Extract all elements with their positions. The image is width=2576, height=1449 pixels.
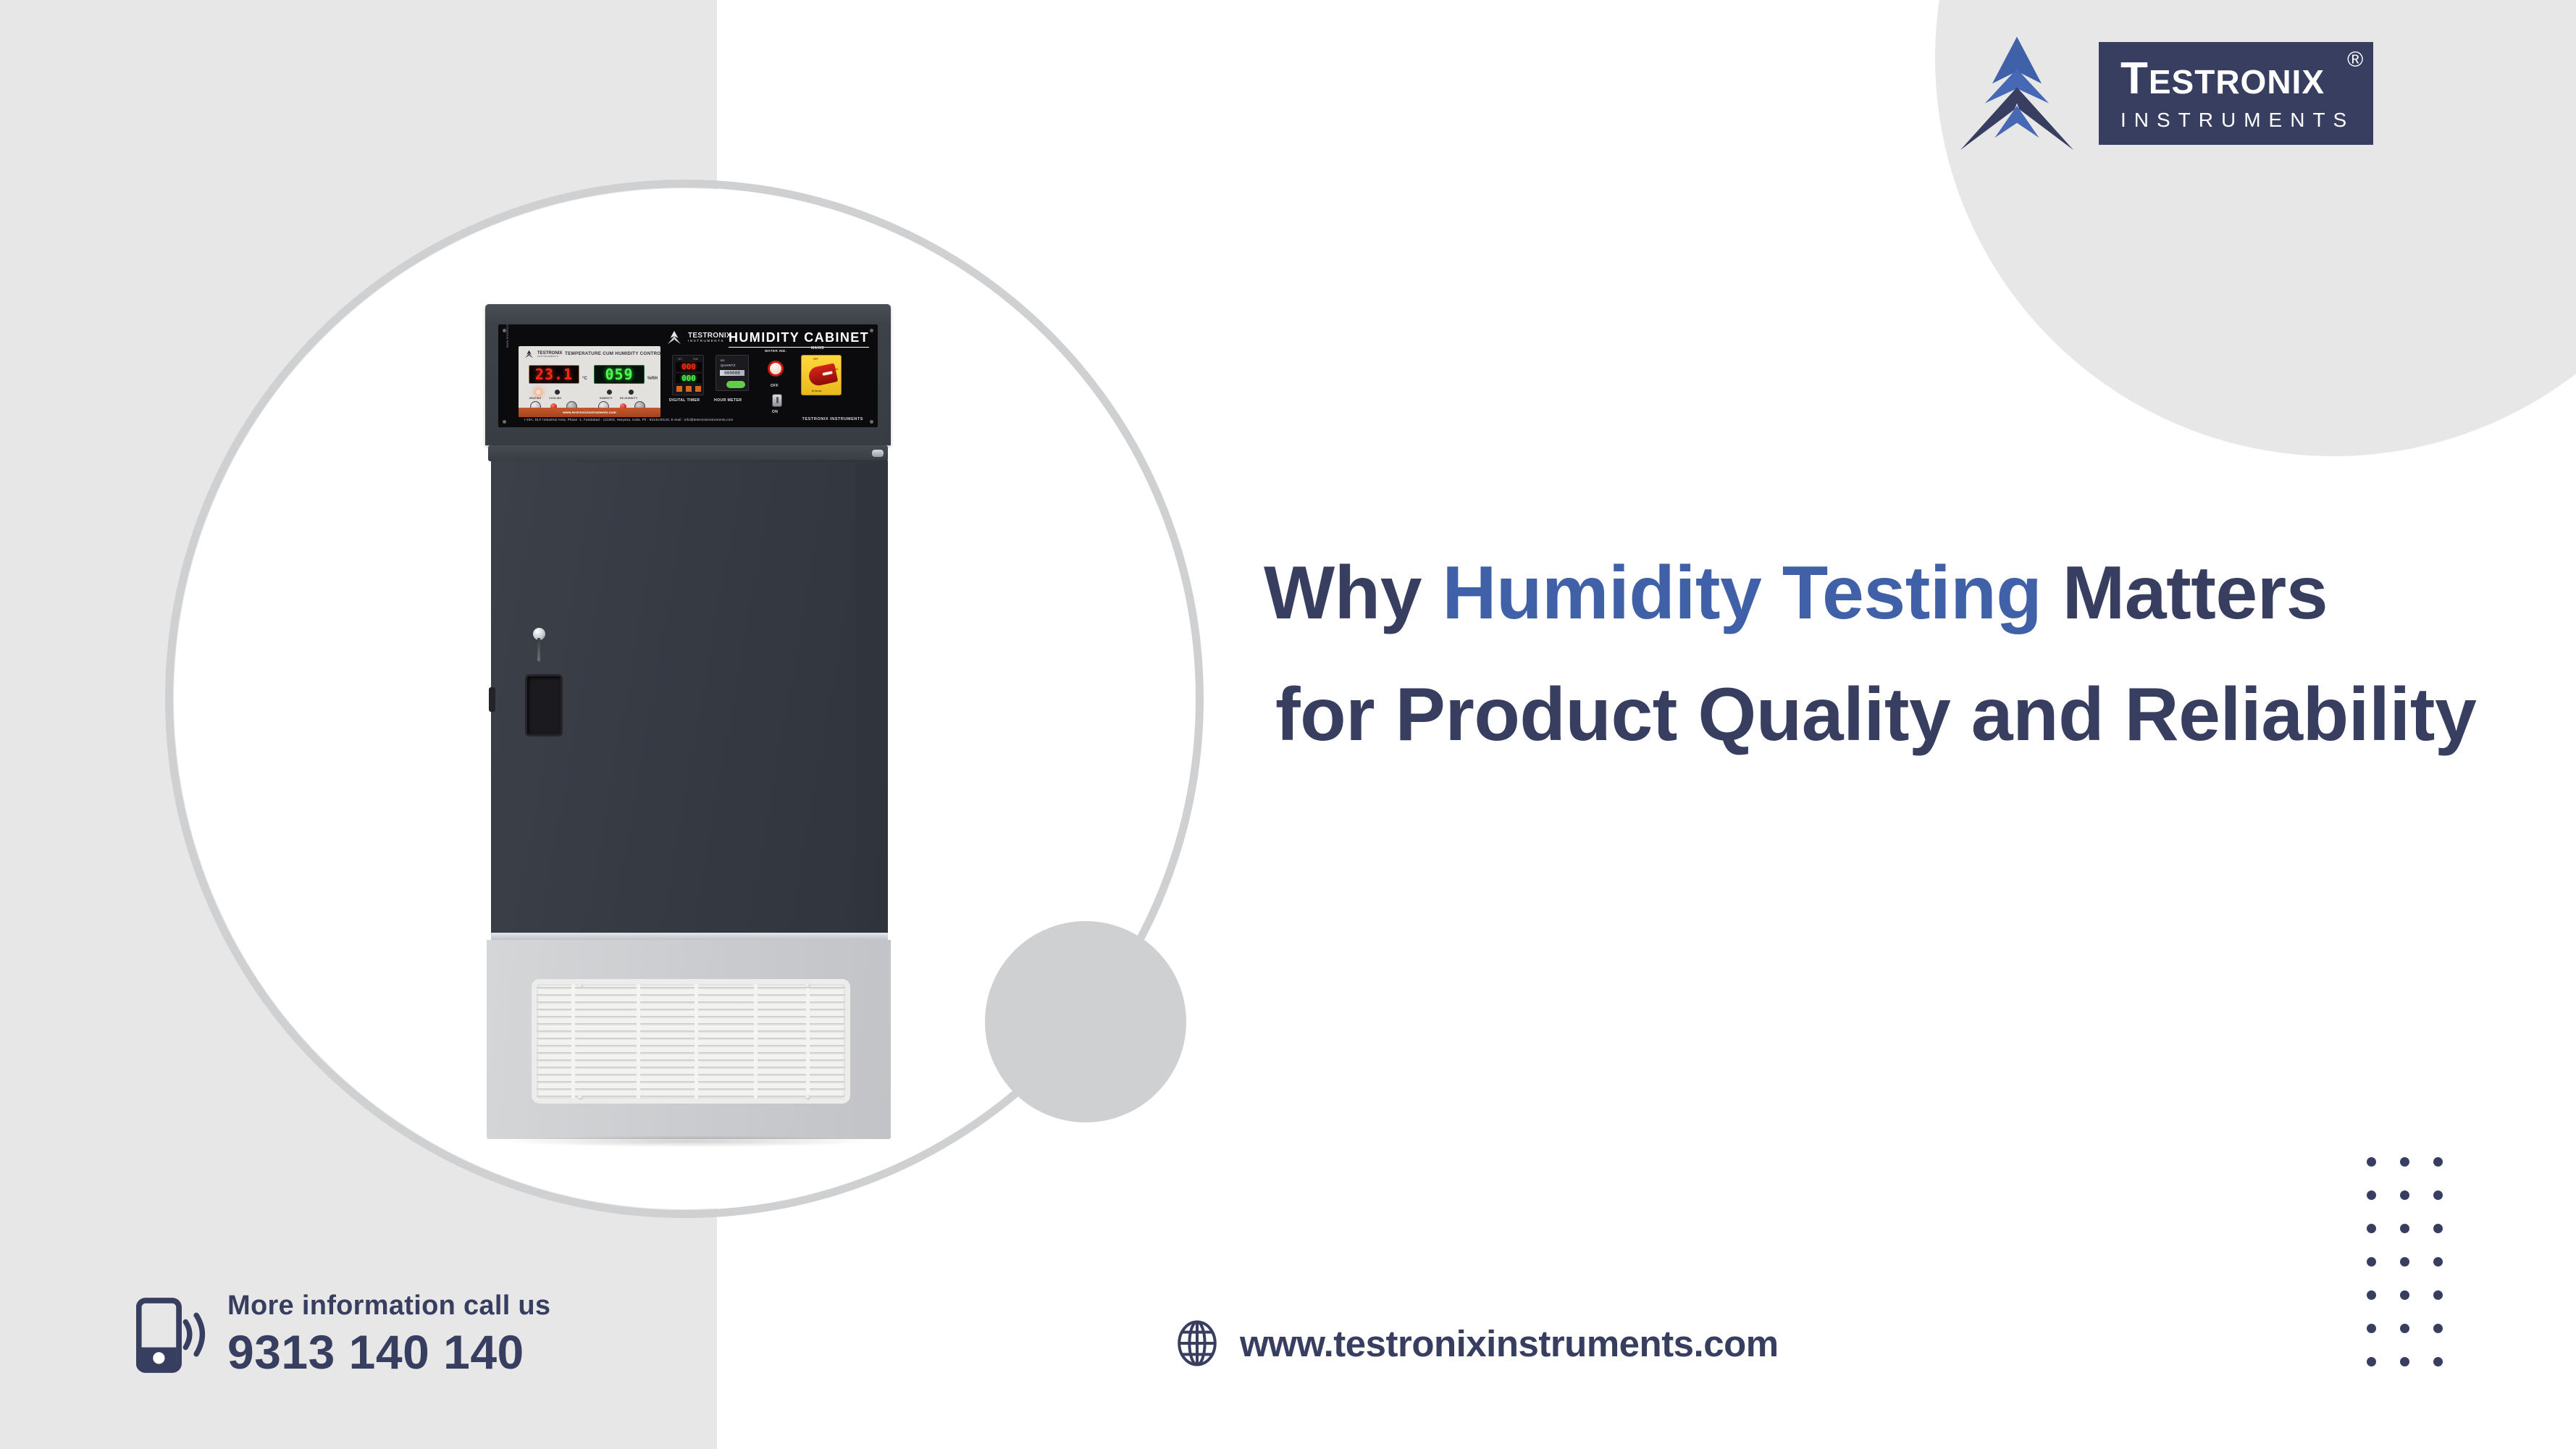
temperature-unit-label: °C (582, 377, 587, 381)
door-hinge-bracket (489, 687, 495, 712)
contact-phone-text: More information call us 9313 140 140 (227, 1290, 550, 1379)
panel-brand-text: TESTRONIX INSTRUMENTS (688, 332, 731, 343)
controller-brand: TESTRONIX INSTRUMENTS (524, 350, 562, 358)
control-panel: TESTRONIX INSTRUMENTS HUMIDITY CABINET w… (498, 324, 878, 427)
power-toggle-switch[interactable] (772, 394, 782, 407)
headline-block: Why Humidity Testing Matters for Product… (1264, 532, 2538, 776)
humidity-value: 059 (605, 366, 633, 383)
hour-meter-digits: 000000 (720, 370, 744, 376)
mains-rotary-switch[interactable]: OFF ON B-Hansa (801, 355, 842, 395)
hour-meter-brand: DC (721, 358, 725, 362)
water-indicator-lamp (768, 361, 784, 377)
grille-screw-icon (578, 1095, 583, 1100)
toggle-off-label: OFF (771, 384, 779, 388)
mains-off-label: OFF (813, 358, 818, 361)
hour-meter-label: HOUR METER (714, 398, 742, 403)
headline-line-2: for Product Quality and Reliability (1264, 654, 2538, 776)
headline-line-1: Why Humidity Testing Matters (1264, 532, 2538, 654)
timer-captions: SET TIME (673, 358, 703, 361)
toggle-on-label: ON (772, 410, 778, 414)
panel-corporate-label: TESTRONIX INSTRUMENTS (802, 417, 863, 421)
timer-green-value: 000 (676, 374, 702, 383)
triangle-chevron-mark-icon (1955, 32, 2078, 155)
brand-logo[interactable]: TESTRONIX ® INSTRUMENTS (1955, 32, 2373, 155)
headline-line1-accent: Humidity Testing (1442, 551, 2042, 635)
digital-timer-module: SET TIME 000 000 (672, 355, 704, 395)
headline-line1-part2: Matters (2042, 551, 2328, 635)
door-handle (525, 674, 563, 736)
controller-brand-text: TESTRONIX INSTRUMENTS (537, 351, 562, 358)
indicator-label-humidity: HUMIDITY (600, 397, 613, 400)
temperature-humidity-controller: TESTRONIX INSTRUMENTS TEMPERATURE CUM HU… (519, 346, 660, 417)
panel-brand-logo: TESTRONIX INSTRUMENTS (666, 330, 731, 345)
indicator-lamp-humidity (607, 390, 612, 395)
registered-trademark-icon: ® (2347, 48, 2363, 72)
grille-screw-icon (805, 983, 810, 988)
headline-line1-part1: Why (1264, 551, 1442, 635)
machine-control-head: TESTRONIX INSTRUMENTS HUMIDITY CABINET w… (485, 304, 891, 445)
timer-red-value: 000 (676, 362, 702, 371)
hour-meter-model: QUARTZ (721, 364, 736, 367)
timer-caption-set: SET (678, 358, 682, 361)
key-icon (537, 638, 540, 661)
hour-meter-indicator (726, 381, 745, 388)
ventilation-grille (532, 979, 850, 1104)
indicator-label-heating: HEATING (529, 397, 541, 400)
indicator-label-cooling: COOLING (549, 397, 561, 400)
timer-caption-time: TIME (692, 358, 698, 361)
mains-knob[interactable] (807, 363, 839, 387)
logo-wordmark: TESTRONIX (2120, 58, 2354, 101)
background-accent-circle (985, 921, 1186, 1122)
mains-label: MAINS (811, 346, 824, 350)
mobile-phone-signal-icon (136, 1296, 206, 1374)
marketing-banner: TESTRONIX INSTRUMENTS HUMIDITY CABINET w… (0, 0, 2576, 1449)
panel-screw-icon (870, 329, 873, 332)
product-name-label: HUMIDITY CABINET (729, 330, 869, 348)
temperature-display: 23.1 (529, 365, 579, 384)
temperature-value: 23.1 (535, 366, 573, 383)
triangle-chevron-mark-icon (666, 330, 682, 345)
indicator-lamp-dehumidity (629, 390, 634, 395)
contact-phone-block[interactable]: More information call us 9313 140 140 (136, 1290, 550, 1379)
contact-phone-number[interactable]: 9313 140 140 (227, 1324, 550, 1379)
mains-brand-label: B-Hansa (812, 390, 821, 392)
contact-website-block[interactable]: www.testronixinstruments.com (1173, 1319, 1779, 1367)
contact-website-url[interactable]: www.testronixinstruments.com (1240, 1322, 1779, 1365)
water-indicator-label: WATER IND. (765, 349, 786, 353)
controller-title-label: TEMPERATURE CUM HUMIDITY CONTROLLER (565, 351, 660, 356)
humidity-display: 059 (594, 365, 645, 384)
grille-screw-icon (805, 1095, 810, 1100)
controller-footer-url: www.testronixinstruments.com (519, 408, 660, 417)
contact-phone-label: More information call us (227, 1290, 550, 1322)
digital-timer-label: DIGITAL TIMER (669, 398, 700, 403)
machine-ground-shadow (507, 1135, 869, 1147)
logo-tagline: INSTRUMENTS (2120, 109, 2354, 132)
indicator-lamp-cooling (555, 390, 560, 395)
timer-buttons[interactable] (676, 386, 701, 392)
dot-grid-decoration (2367, 1157, 2467, 1390)
globe-icon (1173, 1319, 1221, 1367)
manufacturer-address: I-10A, DLF Industrial Area, Phase -1, Fa… (524, 418, 733, 421)
machine-hinge-bar (488, 445, 888, 461)
logo-wordmark-plate: TESTRONIX ® INSTRUMENTS (2099, 42, 2373, 146)
hour-meter-module: DC QUARTZ 000000 (716, 355, 749, 391)
indicator-label-dehumidity: DE-HUMIDITY (620, 397, 637, 400)
panel-side-url: www.testronixinstruments.com (505, 324, 509, 348)
machine-base (487, 940, 891, 1139)
humidity-unit-label: %RH (647, 377, 658, 381)
indicator-lamp-heating (536, 390, 541, 395)
triangle-chevron-mark-icon (524, 350, 534, 358)
grille-screw-icon (578, 983, 583, 988)
humidity-cabinet-product-image: TESTRONIX INSTRUMENTS HUMIDITY CABINET w… (463, 304, 898, 1144)
panel-screw-icon (870, 420, 873, 424)
machine-body (491, 460, 888, 934)
panel-screw-icon (503, 420, 506, 424)
